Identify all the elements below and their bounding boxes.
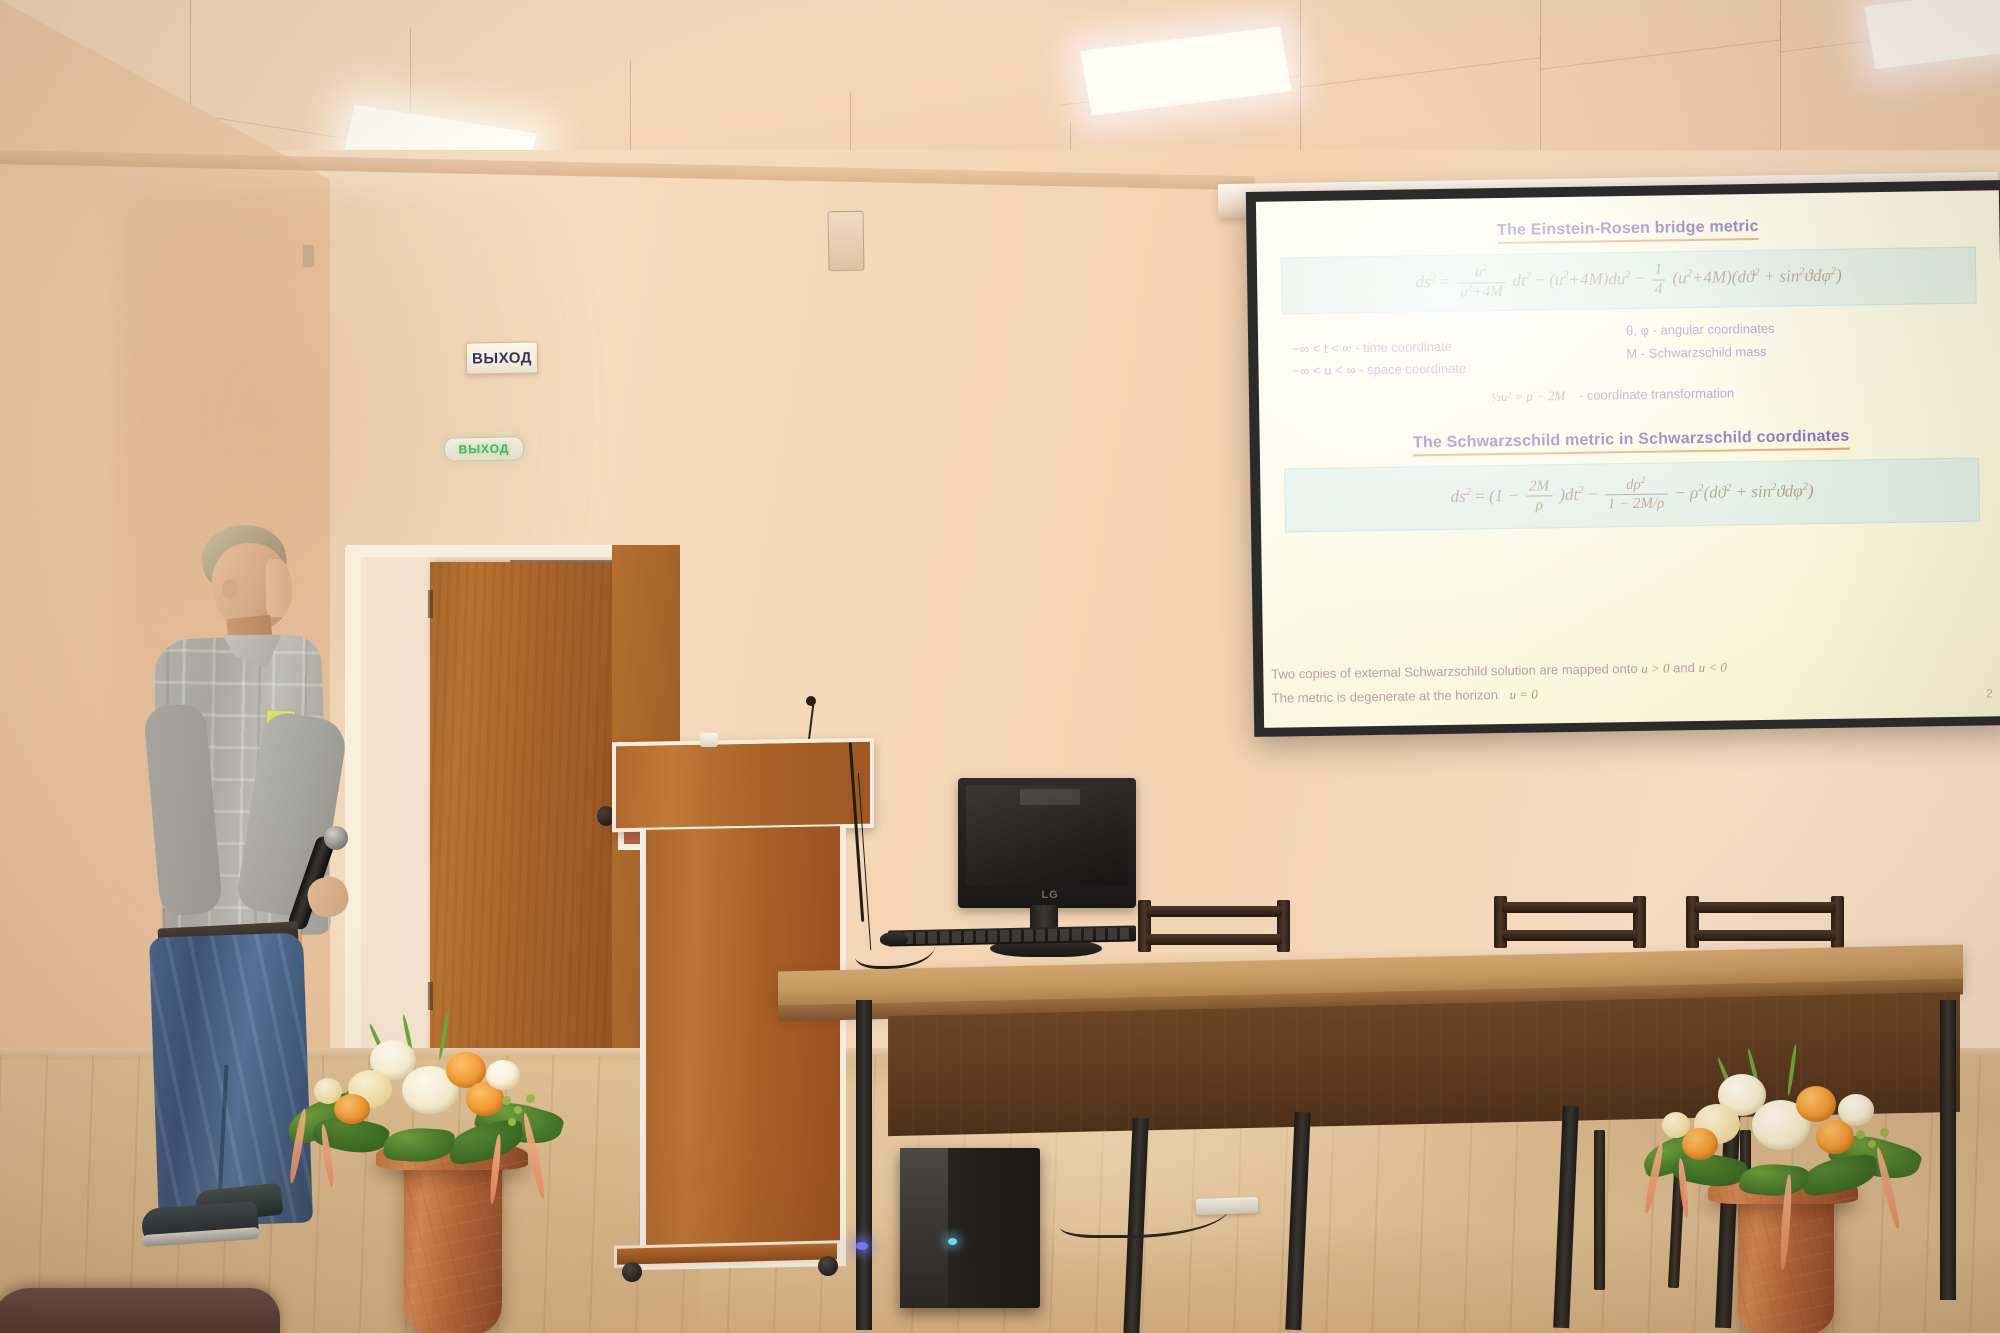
lectern-microphone-head — [806, 696, 816, 706]
exit-sign-label: ВЫХОД — [472, 349, 532, 367]
note-line-2: The metric is degenerate at the horizon — [1272, 687, 1498, 706]
exit-sign-wall: ВЫХОД — [466, 341, 539, 374]
lectern-knob[interactable] — [700, 733, 718, 747]
lg-logo: LG — [1030, 888, 1070, 902]
motion-sensor — [303, 245, 315, 267]
chair-leg-a — [1594, 1130, 1605, 1290]
note-line-1-math-a: u > 0 — [1641, 660, 1670, 675]
slide-content: The Einstein-Rosen bridge metric ds2 = u… — [1256, 190, 2000, 728]
foreground-chair[interactable] — [0, 1288, 280, 1333]
power-strip — [1196, 1197, 1259, 1215]
chair-back-right[interactable] — [1686, 896, 1844, 948]
desktop-tower-front[interactable] — [900, 1148, 948, 1308]
slide-page-number: 2 — [1986, 686, 1993, 700]
lectern-body — [640, 826, 846, 1270]
note-line-1-math-b: u < 0 — [1698, 659, 1727, 674]
chair-back-center[interactable] — [1494, 896, 1646, 948]
microphone-head — [324, 826, 348, 850]
chair-back-left[interactable] — [1138, 900, 1290, 952]
note-line-2-math: u = 0 — [1509, 687, 1538, 702]
note-line-1: Two copies of external Schwarzschild sol… — [1271, 661, 1638, 682]
slide-bottom-note: Two copies of external Schwarzschild sol… — [1271, 651, 1972, 711]
projection-screen: The Einstein-Rosen bridge metric ds2 = u… — [1256, 190, 2000, 728]
monitor-sticker — [1020, 789, 1080, 805]
definition-space-coordinate: −∞ < u < ∞ - space coordinate — [1292, 358, 1466, 383]
equation-einstein-rosen: ds2 = u2u2+4M dt2 − (u2+4M)du2 − 14 (u2+… — [1281, 247, 1977, 314]
coordinate-transformation-formula: ½u² = ρ − 2M — [1491, 388, 1565, 404]
coordinate-transformation-label: - coordinate transformation — [1579, 385, 1735, 402]
power-led — [856, 1242, 868, 1250]
equation-schwarzschild: ds2 = (1 − 2Mρ )dt2 − dρ21 − 2M/ρ − ρ2(d… — [1284, 457, 1980, 532]
table-leg-far-right — [1940, 1000, 1956, 1300]
exit-sign-illuminated-label: ВЫХОД — [458, 442, 509, 457]
activity-led — [948, 1238, 957, 1245]
slide-definitions: −∞ < t < ∞ - time coordinate −∞ < u < ∞ … — [1278, 313, 1983, 428]
definition-angular-coordinates: θ, φ - angular coordinates — [1626, 316, 1775, 342]
slide-title-einstein-rosen: The Einstein-Rosen bridge metric — [1497, 218, 1759, 244]
definition-time-coordinate: −∞ < t < ∞ - time coordinate — [1292, 335, 1466, 360]
lectern-top — [612, 738, 874, 833]
lecture-hall-scene: ВЫХОД ВЫХОД The Einstein-Rosen bridge me… — [0, 0, 2000, 1333]
presenter-ear — [222, 579, 238, 599]
exit-sign-illuminated: ВЫХОД — [444, 436, 524, 461]
flower-vase-left — [404, 1148, 502, 1333]
flower-arrangement-left — [280, 1008, 580, 1168]
table-leg-left — [856, 1000, 872, 1330]
flower-arrangement-right — [1632, 1044, 1932, 1204]
definition-schwarzschild-mass: M - Schwarzschild mass — [1626, 340, 1775, 366]
wall-speaker — [827, 211, 864, 272]
ceiling-light-right — [1864, 0, 2000, 69]
lectern-caster-left — [622, 1262, 642, 1282]
slide-title-schwarzschild: The Schwarzschild metric in Schwarzschil… — [1413, 427, 1850, 456]
presenter-face-profile — [266, 559, 292, 617]
lectern-caster-right — [818, 1256, 838, 1276]
note-line-1-and: and — [1673, 660, 1695, 675]
